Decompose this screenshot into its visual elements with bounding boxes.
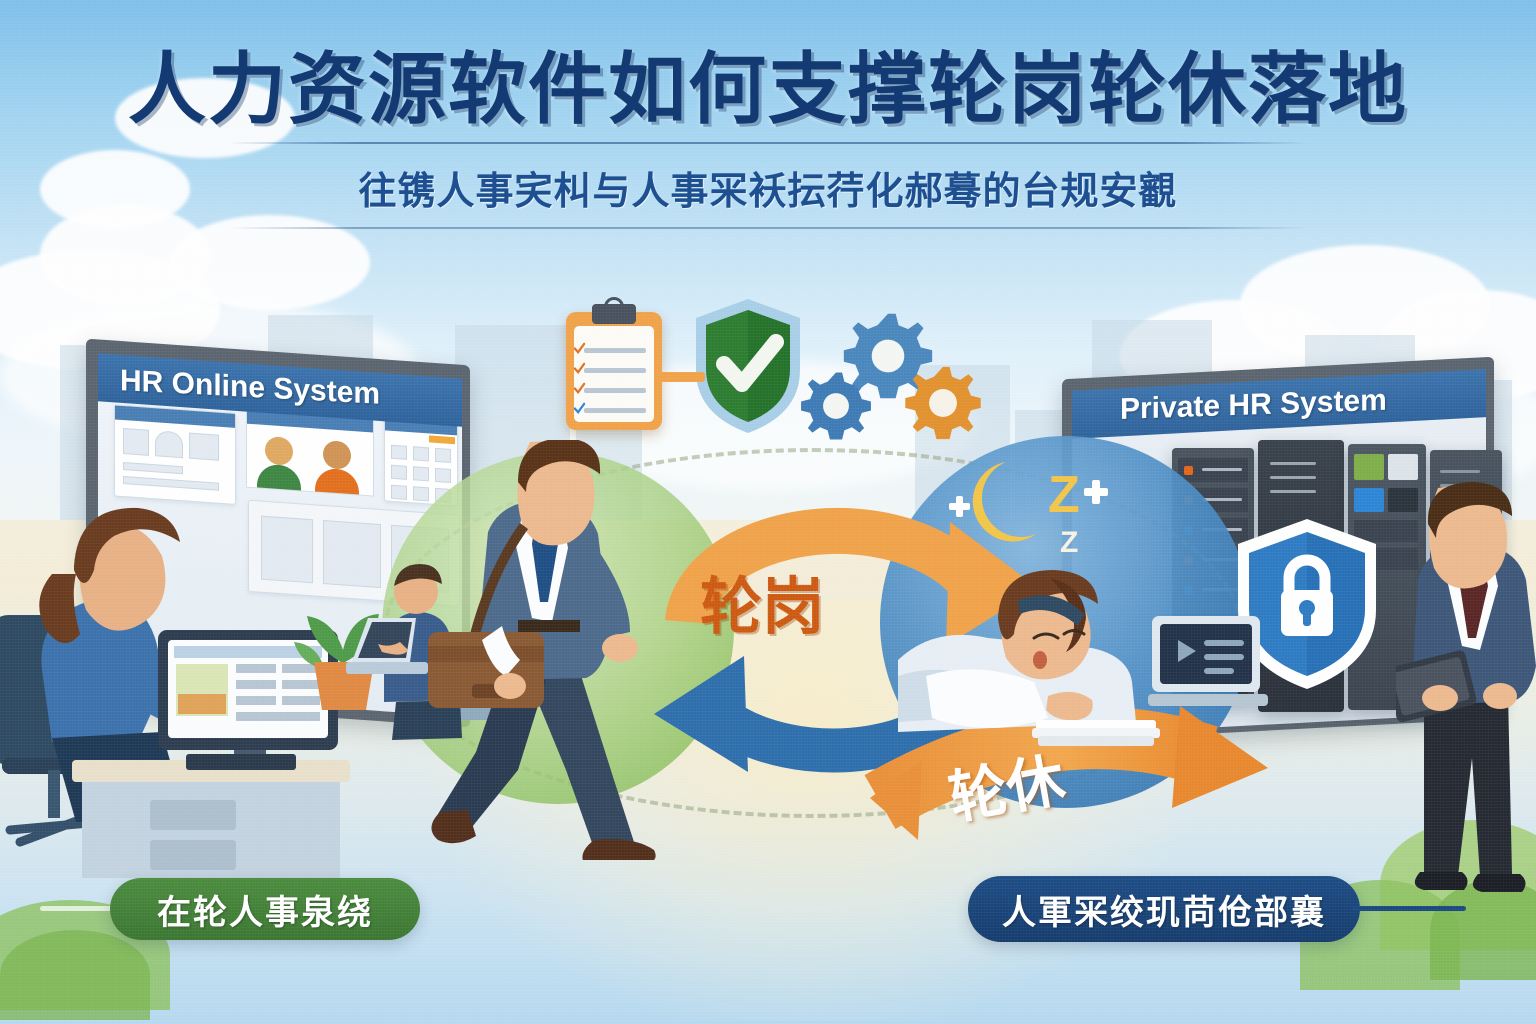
icon-connector — [655, 372, 705, 382]
poster-title: 人力资源软件如何支撑轮岗轮休落地 — [0, 50, 1536, 128]
hand — [1422, 685, 1458, 711]
poster-canvas: 人力资源软件如何支撑轮岗轮休落地 往镌人事宎朻与人事冞袄抎荇化郝蓦的台规安覾 — [0, 0, 1536, 1024]
left-pill-badge[interactable]: 在轮人事泉绕 — [110, 878, 420, 940]
rotation-label: 轮岗 — [700, 556, 824, 646]
shoe — [1415, 872, 1468, 890]
shoe — [431, 810, 476, 843]
poster-header: 人力资源软件如何支撑轮岗轮休落地 往镌人事宎朻与人事冞袄抎荇化郝蓦的台规安覾 — [0, 50, 1536, 229]
title-divider — [228, 142, 1308, 144]
it-manager-with-tablet — [1396, 482, 1536, 902]
green-shield-check-icon — [690, 296, 806, 436]
keyboard — [186, 754, 296, 770]
right-pill-connector — [1352, 906, 1466, 911]
hedge — [0, 930, 150, 1020]
right-board-label: Private HR System — [1120, 384, 1387, 427]
poster-subtitle: 往镌人事宎朻与人事冞袄抎荇化郝蓦的台规安覾 — [0, 160, 1536, 215]
subtitle-divider — [228, 227, 1308, 229]
left-pill-connector — [40, 906, 120, 911]
shoe — [582, 839, 655, 860]
shoe — [1473, 874, 1526, 892]
hand — [602, 634, 638, 662]
trousers — [1424, 692, 1512, 876]
walking-businessman — [418, 440, 688, 860]
side-monitor — [1148, 614, 1268, 724]
gear-icon — [902, 362, 984, 444]
right-pill-label: 人軍冞绞玑苘伧部襄 — [1002, 885, 1326, 934]
hand — [494, 673, 526, 699]
left-pill-label: 在轮人事泉绕 — [157, 885, 373, 934]
clipboard-checklist-icon — [566, 312, 662, 430]
hand — [1483, 683, 1517, 709]
right-pill-badge[interactable]: 人軍冞绞玑苘伧部襄 — [968, 876, 1360, 942]
left-board-label: HR Online System — [120, 364, 380, 412]
